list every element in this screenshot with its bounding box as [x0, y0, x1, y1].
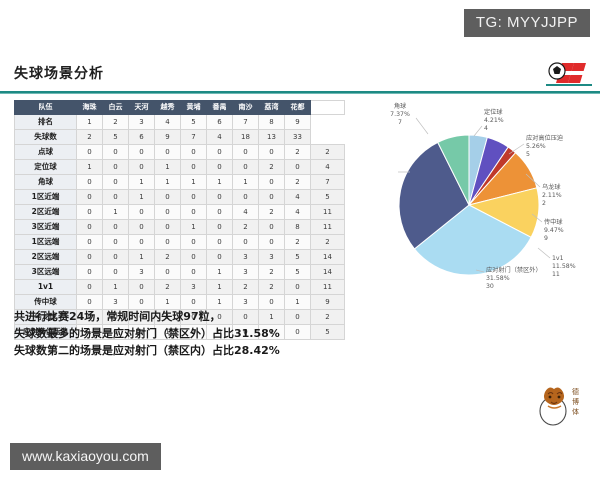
svg-text:1v1: 1v1 — [552, 255, 564, 262]
row-total: 2 — [311, 310, 345, 325]
row-total: 5 — [311, 325, 345, 340]
table-cell: 0 — [103, 235, 129, 250]
col-header-5: 黄埔 — [181, 101, 207, 115]
table-cell: 8 — [259, 115, 285, 130]
table-row: 1区远端0000000022 — [15, 235, 345, 250]
table-cell: 0 — [77, 220, 103, 235]
svg-text:德: 德 — [572, 387, 579, 396]
table-cell: 0 — [181, 190, 207, 205]
svg-text:4: 4 — [484, 125, 488, 132]
row-total: 11 — [311, 280, 345, 295]
svg-text:传中球: 传中球 — [544, 218, 563, 226]
table-cell: 0 — [155, 205, 181, 220]
table-row: 排名123456789 — [15, 115, 345, 130]
table-cell: 1 — [103, 205, 129, 220]
col-header-6: 番禺 — [207, 101, 233, 115]
table-cell: 0 — [129, 205, 155, 220]
row-label: 1区近端 — [15, 190, 77, 205]
table-cell: 6 — [207, 115, 233, 130]
table-cell: 6 — [129, 130, 155, 145]
table-cell: 2 — [233, 220, 259, 235]
table-row: 3区近端00001020811 — [15, 220, 345, 235]
table-cell: 0 — [103, 160, 129, 175]
table-cell: 1 — [103, 280, 129, 295]
table-cell: 0 — [77, 235, 103, 250]
svg-text:4.21%: 4.21% — [484, 117, 504, 124]
table-cell: 0 — [155, 190, 181, 205]
col-header-total: 总计 — [311, 101, 345, 115]
table-cell: 0 — [285, 325, 311, 340]
row-label: 点球 — [15, 145, 77, 160]
table-cell: 0 — [181, 250, 207, 265]
table-cell: 0 — [129, 220, 155, 235]
pie-label: 传中球9.47%9 — [544, 218, 564, 242]
table-cell: 3 — [129, 265, 155, 280]
table-cell: 0 — [103, 250, 129, 265]
tiger-seal-icon: 德 博 体 — [528, 378, 584, 430]
table-cell: 0 — [233, 160, 259, 175]
table-cell: 2 — [259, 160, 285, 175]
table-cell: 0 — [181, 145, 207, 160]
pie-label: 定位球4.21%4 — [484, 108, 504, 132]
table-cell: 7 — [181, 130, 207, 145]
table-cell: 0 — [285, 280, 311, 295]
table-cell: 0 — [181, 160, 207, 175]
table-cell: 7 — [233, 115, 259, 130]
table-row: 3区远端00300132514 — [15, 265, 345, 280]
table-cell: 0 — [129, 145, 155, 160]
pie-label: 角球7.37%7 — [390, 102, 410, 126]
table-row: 角球0011111027 — [15, 175, 345, 190]
table-cell: 0 — [259, 190, 285, 205]
table-cell: 33 — [285, 130, 311, 145]
row-total: 14 — [311, 265, 345, 280]
table-row: 失球数256974181333 — [15, 130, 345, 145]
row-total: 11 — [311, 220, 345, 235]
svg-text:30: 30 — [486, 283, 494, 290]
table-cell: 0 — [77, 280, 103, 295]
row-label: 排名 — [15, 115, 77, 130]
slide-canvas: TG: MYYJJPP 失球场景分析 — [0, 0, 600, 480]
table-cell: 1 — [207, 280, 233, 295]
table-cell: 3 — [233, 250, 259, 265]
table-cell: 0 — [207, 190, 233, 205]
row-label: 1v1 — [15, 280, 77, 295]
table-cell: 18 — [233, 130, 259, 145]
table-cell: 1 — [129, 175, 155, 190]
summary-line-3: 失球数第二的场景是应对射门（禁区内）占比28.42% — [14, 342, 280, 359]
table-cell: 0 — [155, 145, 181, 160]
table-cell: 1 — [155, 160, 181, 175]
table-cell: 0 — [77, 175, 103, 190]
table-cell: 2 — [77, 130, 103, 145]
row-total: 14 — [311, 250, 345, 265]
col-header-7: 南沙 — [233, 101, 259, 115]
summary-line-2: 失球数最多的场景是应对射门（禁区外）占比31.58% — [14, 325, 280, 342]
table-cell: 0 — [233, 145, 259, 160]
table-cell: 0 — [103, 145, 129, 160]
page-title: 失球场景分析 — [14, 63, 104, 83]
table-cell: 5 — [285, 265, 311, 280]
table-cell: 0 — [259, 220, 285, 235]
table-cell: 5 — [103, 130, 129, 145]
row-total: 9 — [311, 295, 345, 310]
table-cell: 5 — [181, 115, 207, 130]
col-header-4: 越秀 — [155, 101, 181, 115]
table-cell: 0 — [259, 175, 285, 190]
pie-label: 应对射门（禁区外）31.58%30 — [486, 266, 542, 290]
table-cell: 2 — [259, 265, 285, 280]
svg-text:31.58%: 31.58% — [486, 275, 510, 282]
table-cell: 3 — [129, 115, 155, 130]
table-cell: 3 — [181, 280, 207, 295]
row-total: 7 — [311, 175, 345, 190]
col-header-9: 花都 — [285, 101, 311, 115]
table-cell: 0 — [181, 205, 207, 220]
table-cell: 0 — [103, 175, 129, 190]
table-cell: 2 — [285, 175, 311, 190]
table-cell: 0 — [285, 310, 311, 325]
table-row: 定位球1001000204 — [15, 160, 345, 175]
table-cell: 0 — [207, 235, 233, 250]
table-cell: 4 — [233, 205, 259, 220]
table-cell: 0 — [181, 265, 207, 280]
concede-scenario-pie-chart: 定位球4.21%4应对高位压迫5.26%5乌龙球2.11%2传中球9.47%91… — [366, 92, 600, 304]
svg-text:9.47%: 9.47% — [544, 227, 564, 234]
table-cell: 0 — [233, 190, 259, 205]
col-header-8: 荔湾 — [259, 101, 285, 115]
table-cell: 2 — [155, 250, 181, 265]
pie-leader-line — [538, 248, 550, 258]
row-label: 3区近端 — [15, 220, 77, 235]
row-total: 2 — [311, 145, 345, 160]
table-cell: 2 — [285, 145, 311, 160]
table-cell: 3 — [233, 265, 259, 280]
table-cell: 0 — [129, 280, 155, 295]
row-label: 2区远端 — [15, 250, 77, 265]
table-cell: 3 — [259, 250, 285, 265]
table-cell: 5 — [285, 250, 311, 265]
table-cell: 4 — [155, 115, 181, 130]
row-total: 11 — [311, 205, 345, 220]
row-label: 1区远端 — [15, 235, 77, 250]
table-cell: 0 — [155, 220, 181, 235]
table-cell: 0 — [103, 190, 129, 205]
table-cell: 2 — [103, 115, 129, 130]
site-watermark: www.kaxiaoyou.com — [10, 443, 161, 470]
slide-header: 失球场景分析 — [0, 62, 600, 94]
table-row: 1v101023122011 — [15, 280, 345, 295]
table-cell: 1 — [233, 175, 259, 190]
table-cell: 1 — [207, 175, 233, 190]
svg-text:11.58%: 11.58% — [552, 263, 576, 270]
table-cell: 1 — [129, 190, 155, 205]
row-label: 2区近端 — [15, 205, 77, 220]
table-cell: 0 — [207, 250, 233, 265]
table-cell: 0 — [77, 250, 103, 265]
table-cell: 0 — [181, 235, 207, 250]
table-cell: 0 — [129, 235, 155, 250]
table-cell: 0 — [207, 220, 233, 235]
row-label: 3区远端 — [15, 265, 77, 280]
col-header-1: 海珠 — [77, 101, 103, 115]
table-cell: 0 — [103, 265, 129, 280]
table-cell: 2 — [233, 280, 259, 295]
table-cell: 0 — [207, 160, 233, 175]
svg-text:5: 5 — [526, 151, 530, 158]
row-total: 4 — [311, 160, 345, 175]
table-cell: 1 — [181, 220, 207, 235]
table-cell: 0 — [259, 145, 285, 160]
svg-text:2: 2 — [542, 200, 546, 207]
pie-label: 乌龙球2.11%2 — [542, 183, 562, 207]
table-cell: 8 — [285, 220, 311, 235]
table-cell: 1 — [207, 265, 233, 280]
table-cell: 0 — [155, 235, 181, 250]
table-row: 1区近端0010000045 — [15, 190, 345, 205]
pie-leader-line — [416, 118, 428, 134]
table-cell: 0 — [259, 235, 285, 250]
table-header-row: 队伍 海珠 白云 天河 越秀 黄埔 番禺 南沙 荔湾 花都 总计 — [15, 101, 345, 115]
svg-text:应对高位压迫: 应对高位压迫 — [526, 134, 564, 142]
table-cell: 0 — [233, 235, 259, 250]
table-cell: 1 — [77, 160, 103, 175]
svg-text:体: 体 — [572, 407, 579, 416]
table-cell: 0 — [155, 265, 181, 280]
table-row: 2区远端00120033514 — [15, 250, 345, 265]
table-cell: 1 — [181, 175, 207, 190]
row-label: 失球数 — [15, 130, 77, 145]
table-cell: 0 — [77, 205, 103, 220]
table-cell: 0 — [207, 205, 233, 220]
svg-text:5.26%: 5.26% — [526, 143, 546, 150]
summary-line-1: 共进行比赛24场，常规时间内失球97粒， — [14, 308, 280, 325]
table-cell: 1 — [285, 295, 311, 310]
summary-text: 共进行比赛24场，常规时间内失球97粒， 失球数最多的场景是应对射门（禁区外）占… — [14, 308, 280, 359]
svg-text:乌龙球: 乌龙球 — [542, 183, 561, 191]
pie-label: 应对高位压迫5.26%5 — [526, 134, 564, 158]
table-row: 点球0000000022 — [15, 145, 345, 160]
pie-label: 1v111.58%11 — [552, 255, 576, 278]
col-header-2: 白云 — [103, 101, 129, 115]
svg-text:定位球: 定位球 — [484, 108, 503, 116]
row-total: 2 — [311, 235, 345, 250]
svg-text:2.11%: 2.11% — [542, 192, 562, 199]
col-header-3: 天河 — [129, 101, 155, 115]
svg-text:9: 9 — [544, 235, 548, 242]
table-cell: 2 — [155, 280, 181, 295]
svg-text:11: 11 — [552, 271, 560, 278]
pie-leader-line — [474, 126, 482, 136]
table-cell: 1 — [155, 175, 181, 190]
row-label: 角球 — [15, 175, 77, 190]
row-total: 5 — [311, 190, 345, 205]
svg-text:7.37%: 7.37% — [390, 111, 410, 118]
table-cell: 9 — [155, 130, 181, 145]
table-cell: 0 — [77, 145, 103, 160]
table-body: 排名123456789失球数256974181333点球0000000022定位… — [15, 115, 345, 340]
table-cell: 0 — [77, 190, 103, 205]
scenario-stats-table: 队伍 海珠 白云 天河 越秀 黄埔 番禺 南沙 荔湾 花都 总计 排名12345… — [14, 100, 345, 340]
table-cell: 0 — [77, 265, 103, 280]
table-cell: 9 — [285, 115, 311, 130]
svg-text:应对射门（禁区外）: 应对射门（禁区外） — [486, 266, 542, 274]
table-cell: 1 — [129, 250, 155, 265]
table-cell: 2 — [285, 235, 311, 250]
col-header-0: 队伍 — [15, 101, 77, 115]
table-cell: 0 — [129, 160, 155, 175]
telegram-watermark: TG: MYYJJPP — [464, 9, 590, 37]
svg-text:博: 博 — [572, 397, 579, 406]
table-cell: 13 — [259, 130, 285, 145]
table-cell: 4 — [207, 130, 233, 145]
table-cell: 2 — [259, 205, 285, 220]
table-cell: 4 — [285, 190, 311, 205]
table-cell: 0 — [103, 220, 129, 235]
table-row: 2区近端01000042411 — [15, 205, 345, 220]
football-logo-icon — [544, 58, 594, 90]
table-cell: 1 — [77, 115, 103, 130]
table-cell: 0 — [207, 145, 233, 160]
table-cell: 2 — [259, 280, 285, 295]
table-cell: 4 — [285, 205, 311, 220]
row-label: 定位球 — [15, 160, 77, 175]
table-cell: 0 — [285, 160, 311, 175]
svg-text:角球: 角球 — [394, 102, 407, 110]
svg-text:7: 7 — [398, 119, 402, 126]
